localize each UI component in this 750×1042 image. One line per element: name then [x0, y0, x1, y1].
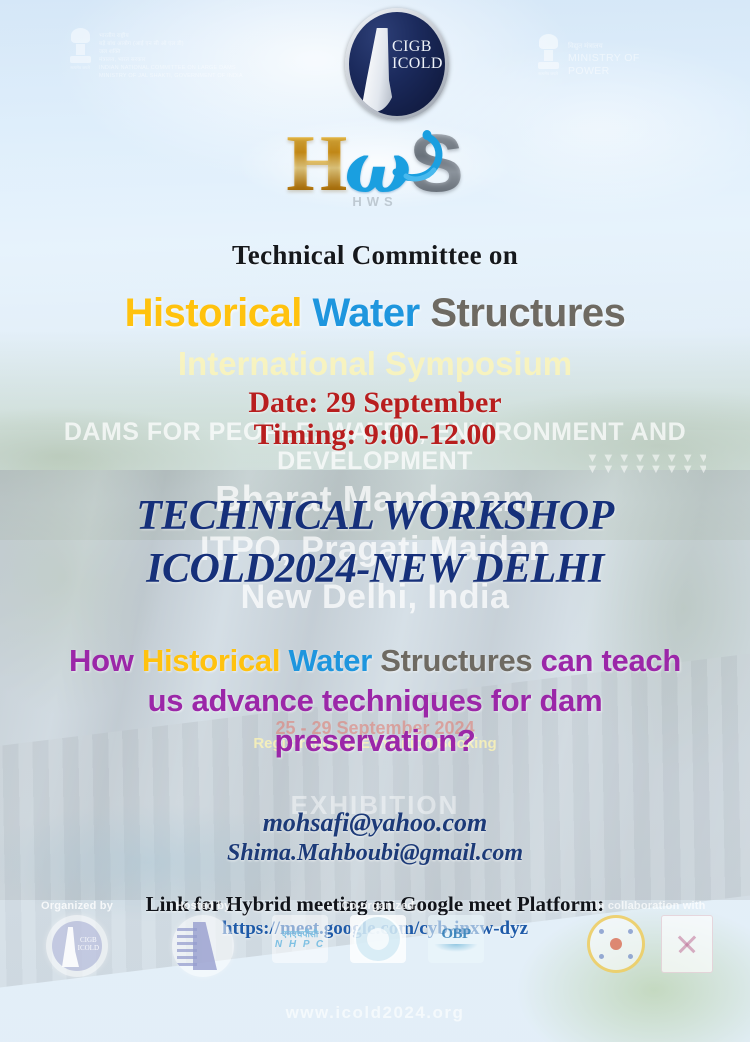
- theme-question-line3: preservation?: [0, 723, 750, 759]
- nhpc-english: N H P C: [275, 939, 325, 950]
- nhpc-hindi: एनएचपीसी: [275, 929, 325, 939]
- theme-q-structures: Structures: [380, 643, 532, 678]
- title-word-structures: Structures: [430, 291, 625, 335]
- workshop-title-line2: ICOLD2024-NEW DELHI: [0, 545, 750, 593]
- icold-mini-mark: CIGB ICOLD: [52, 921, 102, 971]
- theme-q-how: How: [69, 643, 142, 678]
- icold-mini-logo: CIGB ICOLD: [46, 915, 108, 977]
- hosted-by-label: Hosted by: [148, 900, 258, 912]
- icold-mini-text: CIGB ICOLD: [78, 936, 99, 952]
- title-word-historical: Historical: [125, 291, 302, 335]
- page-title: Historical Water Structures: [0, 291, 750, 336]
- footer-co-organized-group: Co-organized एनएचपीसी N H P C OBP: [268, 900, 488, 963]
- dam-silhouette-icon: [175, 920, 231, 972]
- footer-collaboration-group: In collaboration with: [560, 900, 740, 973]
- title-word-water: Water: [313, 291, 420, 335]
- event-timing: Timing: 9:00-12.00: [0, 418, 750, 452]
- poster-content: Technical Committee on Historical Water …: [0, 0, 750, 1042]
- wave-icon: [434, 944, 478, 952]
- organized-by-label: Organized by: [22, 900, 132, 912]
- theme-question-line1: How Historical Water Structures can teac…: [0, 643, 750, 679]
- obp-logo: OBP: [428, 915, 484, 963]
- footer-logo-strip: Organized by CIGB ICOLD Hosted by: [0, 898, 750, 1006]
- co-organized-label: Co-organized: [268, 900, 488, 912]
- footer-organized-by-group: Organized by CIGB ICOLD: [22, 900, 132, 977]
- poster-root: International Symposium DAMS FOR PEOPLE,…: [0, 0, 750, 1042]
- technical-committee-label: Technical Committee on: [0, 240, 750, 271]
- incold-mini-logo: [172, 915, 234, 977]
- obp-text: OBP: [434, 926, 478, 943]
- theme-q-water: Water: [288, 643, 371, 678]
- theme-q-canteach: can teach: [532, 643, 681, 678]
- contact-email-2[interactable]: Shima.Mahboubi@gmail.com: [0, 840, 750, 867]
- nhpc-logo: एनएचपीसी N H P C: [272, 915, 328, 963]
- event-date: Date: 29 September: [0, 386, 750, 420]
- water-badge-icon: [354, 915, 402, 963]
- gold-seal-icon: [587, 915, 645, 973]
- collaboration-label: In collaboration with: [560, 900, 740, 912]
- cwc-logo: [350, 915, 406, 963]
- theme-question-line2: us advance techniques for dam: [0, 683, 750, 719]
- contact-email-1[interactable]: mohsafi@yahoo.com: [0, 808, 750, 838]
- theme-q-historical: Historical: [142, 643, 280, 678]
- footer-hosted-by-group: Hosted by: [148, 900, 258, 977]
- workshop-title-line1: TECHNICAL WORKSHOP: [0, 492, 750, 540]
- certificate-seal-icon: [661, 915, 713, 973]
